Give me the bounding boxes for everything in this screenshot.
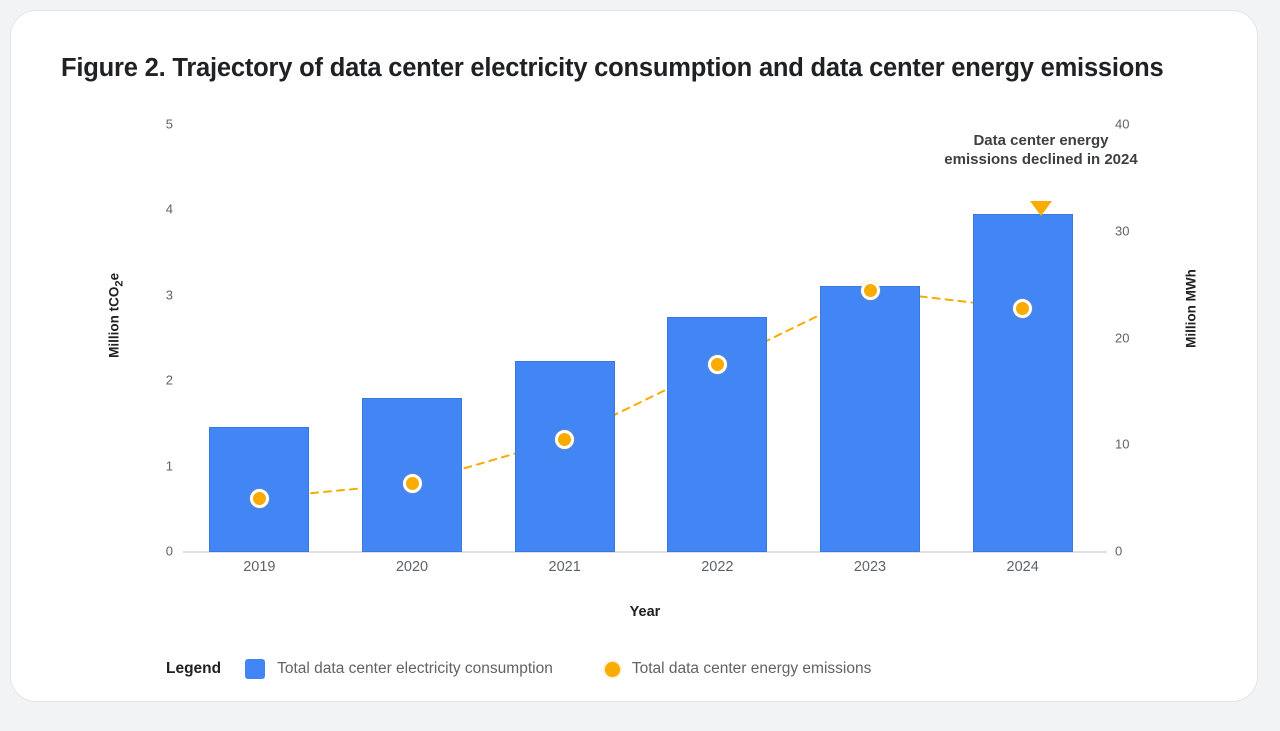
x-axis-tick-2019: 2019 (199, 559, 319, 575)
bar-2022[interactable] (667, 317, 767, 552)
data-point-2021[interactable] (555, 430, 574, 449)
y-axis-left-ticks: 012345 (121, 11, 173, 731)
bar-2023[interactable] (820, 286, 920, 552)
y-axis-left-tick: 0 (139, 544, 173, 559)
annotation-text: Data center energy emissions declined in… (941, 131, 1141, 169)
y-axis-right-tick: 0 (1115, 544, 1151, 559)
data-point-2020[interactable] (403, 474, 422, 493)
y-axis-left-tick: 2 (139, 373, 173, 388)
legend-item-consumption[interactable]: Total data center electricity consumptio… (245, 659, 553, 679)
legend-title: Legend (166, 660, 221, 678)
plot-area (183, 124, 1099, 552)
y-axis-left-label-text: Million tCO2e (107, 273, 122, 358)
y-axis-right-label: Million MWh (1184, 199, 1199, 419)
legend-dot-icon (605, 662, 620, 677)
emissions-line (183, 124, 1099, 552)
data-point-2022[interactable] (708, 355, 727, 374)
figure-card: Figure 2. Trajectory of data center elec… (10, 10, 1258, 702)
y-axis-left-tick: 5 (139, 117, 173, 132)
y-axis-left-tick: 1 (139, 458, 173, 473)
x-axis-tick-2020: 2020 (352, 559, 472, 575)
page-title: Figure 2. Trajectory of data center elec… (61, 53, 1201, 84)
y-axis-left-label: Million tCO2e (107, 205, 126, 425)
x-axis-tick-2024: 2024 (963, 559, 1083, 575)
x-axis-label: Year (183, 604, 1107, 620)
legend: Legend Total data center electricity con… (166, 659, 871, 679)
triangle-down-icon (1030, 201, 1052, 216)
legend-item-label: Total data center energy emissions (632, 660, 872, 678)
bar-2024[interactable] (973, 214, 1073, 552)
legend-square-icon (245, 659, 265, 679)
data-point-2023[interactable] (861, 281, 880, 300)
y-axis-right-tick: 30 (1115, 223, 1151, 238)
y-axis-right-tick: 20 (1115, 330, 1151, 345)
data-point-2024[interactable] (1013, 299, 1032, 318)
y-axis-right-tick: 10 (1115, 437, 1151, 452)
x-axis-tick-2023: 2023 (810, 559, 930, 575)
y-axis-left-tick: 3 (139, 287, 173, 302)
data-point-2019[interactable] (250, 489, 269, 508)
legend-item-label: Total data center electricity consumptio… (277, 660, 553, 678)
bar-2021[interactable] (515, 361, 615, 552)
legend-item-emissions[interactable]: Total data center energy emissions (605, 660, 872, 678)
y-axis-right-tick: 40 (1115, 117, 1151, 132)
x-axis-tick-2021: 2021 (505, 559, 625, 575)
x-axis-tick-2022: 2022 (657, 559, 777, 575)
y-axis-left-tick: 4 (139, 202, 173, 217)
y-axis-right-ticks: 010203040 (1115, 11, 1159, 731)
